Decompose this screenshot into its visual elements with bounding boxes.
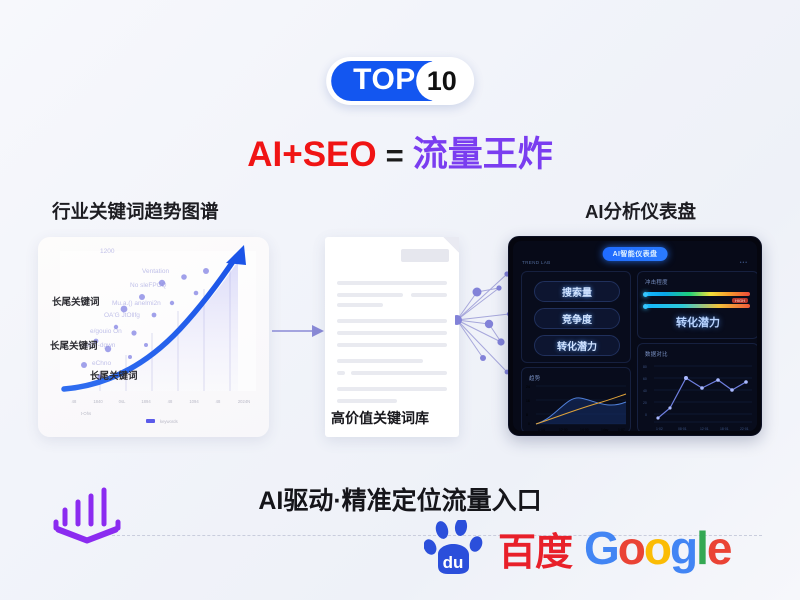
google-letter-g2: g bbox=[670, 522, 696, 574]
svg-text:0: 0 bbox=[528, 422, 530, 426]
baidu-logo-icon: du bbox=[424, 520, 496, 576]
gauge-marker-1 bbox=[643, 292, 648, 297]
svg-text:OA'G JtOllfg: OA'G JtOllfg bbox=[104, 312, 140, 319]
gauge-overlay-label: 转化潜力 bbox=[638, 314, 757, 330]
document-caption: 高价值关键词库 bbox=[331, 408, 455, 428]
right-section-caption: AI分析仪表盘 bbox=[585, 198, 696, 224]
google-wordmark: Google bbox=[584, 525, 730, 571]
google-letter-o2: o bbox=[644, 522, 670, 574]
keyword-label-3: 长尾关键词 bbox=[90, 370, 138, 382]
svg-text:18·01: 18·01 bbox=[720, 427, 729, 431]
keyword-node-graph bbox=[455, 262, 511, 382]
svg-text:e/gouio On: e/gouio On bbox=[90, 328, 122, 335]
svg-text:24: 24 bbox=[526, 385, 530, 389]
svg-text:1·02: 1·02 bbox=[656, 427, 663, 431]
chart-legend: keywords bbox=[160, 419, 178, 424]
gauge-status-chip: HIGH bbox=[732, 298, 748, 303]
gauge-marker-2 bbox=[643, 304, 648, 309]
top-number: 10 bbox=[416, 61, 468, 101]
svg-text:1·07: 1·07 bbox=[618, 428, 625, 431]
svg-text:Ventation: Ventation bbox=[142, 268, 169, 275]
dashboard-menu-icon[interactable]: ••• bbox=[740, 260, 748, 266]
svg-text:08·01: 08·01 bbox=[678, 427, 687, 431]
svg-text:48: 48 bbox=[216, 399, 221, 404]
svg-text:48: 48 bbox=[72, 399, 77, 404]
svg-text:Mu.a.() anelmi2n: Mu.a.() anelmi2n bbox=[112, 300, 161, 307]
keyword-label-1: 长尾关键词 bbox=[52, 296, 100, 308]
keyword-trend-chart: Ventation No sleFPCQ Mu.a.() anelmi2n OA… bbox=[38, 237, 269, 437]
svg-text:20: 20 bbox=[643, 401, 647, 405]
impact-gauge-panel: 冲击程度 HIGH 转化潜力 bbox=[637, 271, 757, 339]
comparison-line-panel: 数据对比 1·0208·01 bbox=[637, 343, 757, 431]
left-section-caption: 行业关键词趋势图谱 bbox=[52, 198, 219, 224]
svg-text:14·00: 14·00 bbox=[580, 428, 589, 431]
svg-text:1200: 1200 bbox=[100, 248, 115, 255]
dashboard-brand: TREND LAB bbox=[522, 260, 550, 265]
top-rank-badge: TOP 10 bbox=[326, 57, 474, 105]
line-panel-title: 数据对比 bbox=[645, 350, 668, 358]
ai-dashboard-card: AI智能仪表盘 TREND LAB ••• 搜索量 竞争度 转化潜力 趋势 bbox=[508, 236, 762, 436]
svg-text:16: 16 bbox=[526, 399, 530, 403]
gauge-bar-1 bbox=[646, 292, 750, 296]
svg-text:1day: 1day bbox=[601, 428, 609, 431]
trend-area-panel: 趋势 1·1412·00 14·001day 1·07 241680 bbox=[521, 367, 631, 431]
headline-equals: = bbox=[386, 138, 404, 173]
svg-text:1094: 1094 bbox=[189, 399, 199, 404]
keyword-library-document: 高价值关键词库 bbox=[325, 237, 459, 437]
google-letter-e: e bbox=[707, 522, 731, 574]
svg-text:80: 80 bbox=[643, 365, 647, 369]
poster-canvas: TOP 10 AI+SEO=流量王炸 行业关键词趋势图谱 AI分析仪表盘 bbox=[0, 0, 800, 600]
flow-arrow-icon bbox=[272, 323, 324, 339]
svg-text:1·14: 1·14 bbox=[538, 428, 545, 431]
svg-text:1840: 1840 bbox=[93, 399, 103, 404]
search-engine-logos: du 百度 Google bbox=[424, 520, 731, 576]
metric-pills-panel: 搜索量 竞争度 转化潜力 bbox=[521, 271, 631, 363]
svg-text:1894: 1894 bbox=[141, 399, 151, 404]
dashboard-title-badge: AI智能仪表盘 bbox=[603, 247, 668, 261]
gauge-panel-title: 冲击程度 bbox=[645, 278, 668, 286]
svg-text:No sleFPCQ: No sleFPCQ bbox=[130, 282, 166, 289]
google-letter-l: l bbox=[696, 522, 707, 574]
keyword-label-2: 长尾关键词 bbox=[50, 340, 98, 352]
svg-text:60: 60 bbox=[643, 377, 647, 381]
svg-text:40: 40 bbox=[643, 389, 647, 393]
keyword-trend-card: Ventation No sleFPCQ Mu.a.() anelmi2n OA… bbox=[38, 237, 269, 437]
svg-text:0sL: 0sL bbox=[119, 399, 126, 404]
svg-text:0: 0 bbox=[645, 413, 647, 417]
svg-text:t-Ohs: t-Ohs bbox=[81, 411, 91, 416]
google-letter-o1: o bbox=[618, 522, 644, 574]
axis-ticks: 481840 0sL1894 481094 482024N t-Ohs bbox=[72, 399, 251, 416]
area-panel-title: 趋势 bbox=[529, 374, 540, 382]
baidu-du-text: du bbox=[443, 553, 464, 572]
pill-conversion[interactable]: 转化潜力 bbox=[534, 335, 620, 356]
google-letter-g1: G bbox=[584, 522, 618, 574]
baidu-wordmark: 百度 bbox=[498, 521, 572, 576]
pill-search-volume[interactable]: 搜索量 bbox=[534, 281, 620, 302]
gauge-bar-2 bbox=[646, 304, 750, 308]
svg-text:eChno: eChno bbox=[92, 360, 112, 367]
headline-left: AI+SEO bbox=[247, 135, 376, 174]
svg-text:2024N: 2024N bbox=[238, 399, 250, 404]
svg-text:12·01: 12·01 bbox=[700, 427, 709, 431]
svg-text:8: 8 bbox=[526, 413, 528, 417]
doc-header-tag bbox=[401, 249, 449, 262]
svg-text:48: 48 bbox=[168, 399, 173, 404]
pill-competition[interactable]: 竞争度 bbox=[534, 308, 620, 329]
page-title: AI+SEO=流量王炸 bbox=[0, 126, 800, 177]
svg-text:12·00: 12·00 bbox=[559, 428, 568, 431]
svg-text:22·01: 22·01 bbox=[740, 427, 749, 431]
headline-right: 流量王炸 bbox=[413, 135, 553, 174]
bar-chart-icon bbox=[48, 484, 126, 546]
